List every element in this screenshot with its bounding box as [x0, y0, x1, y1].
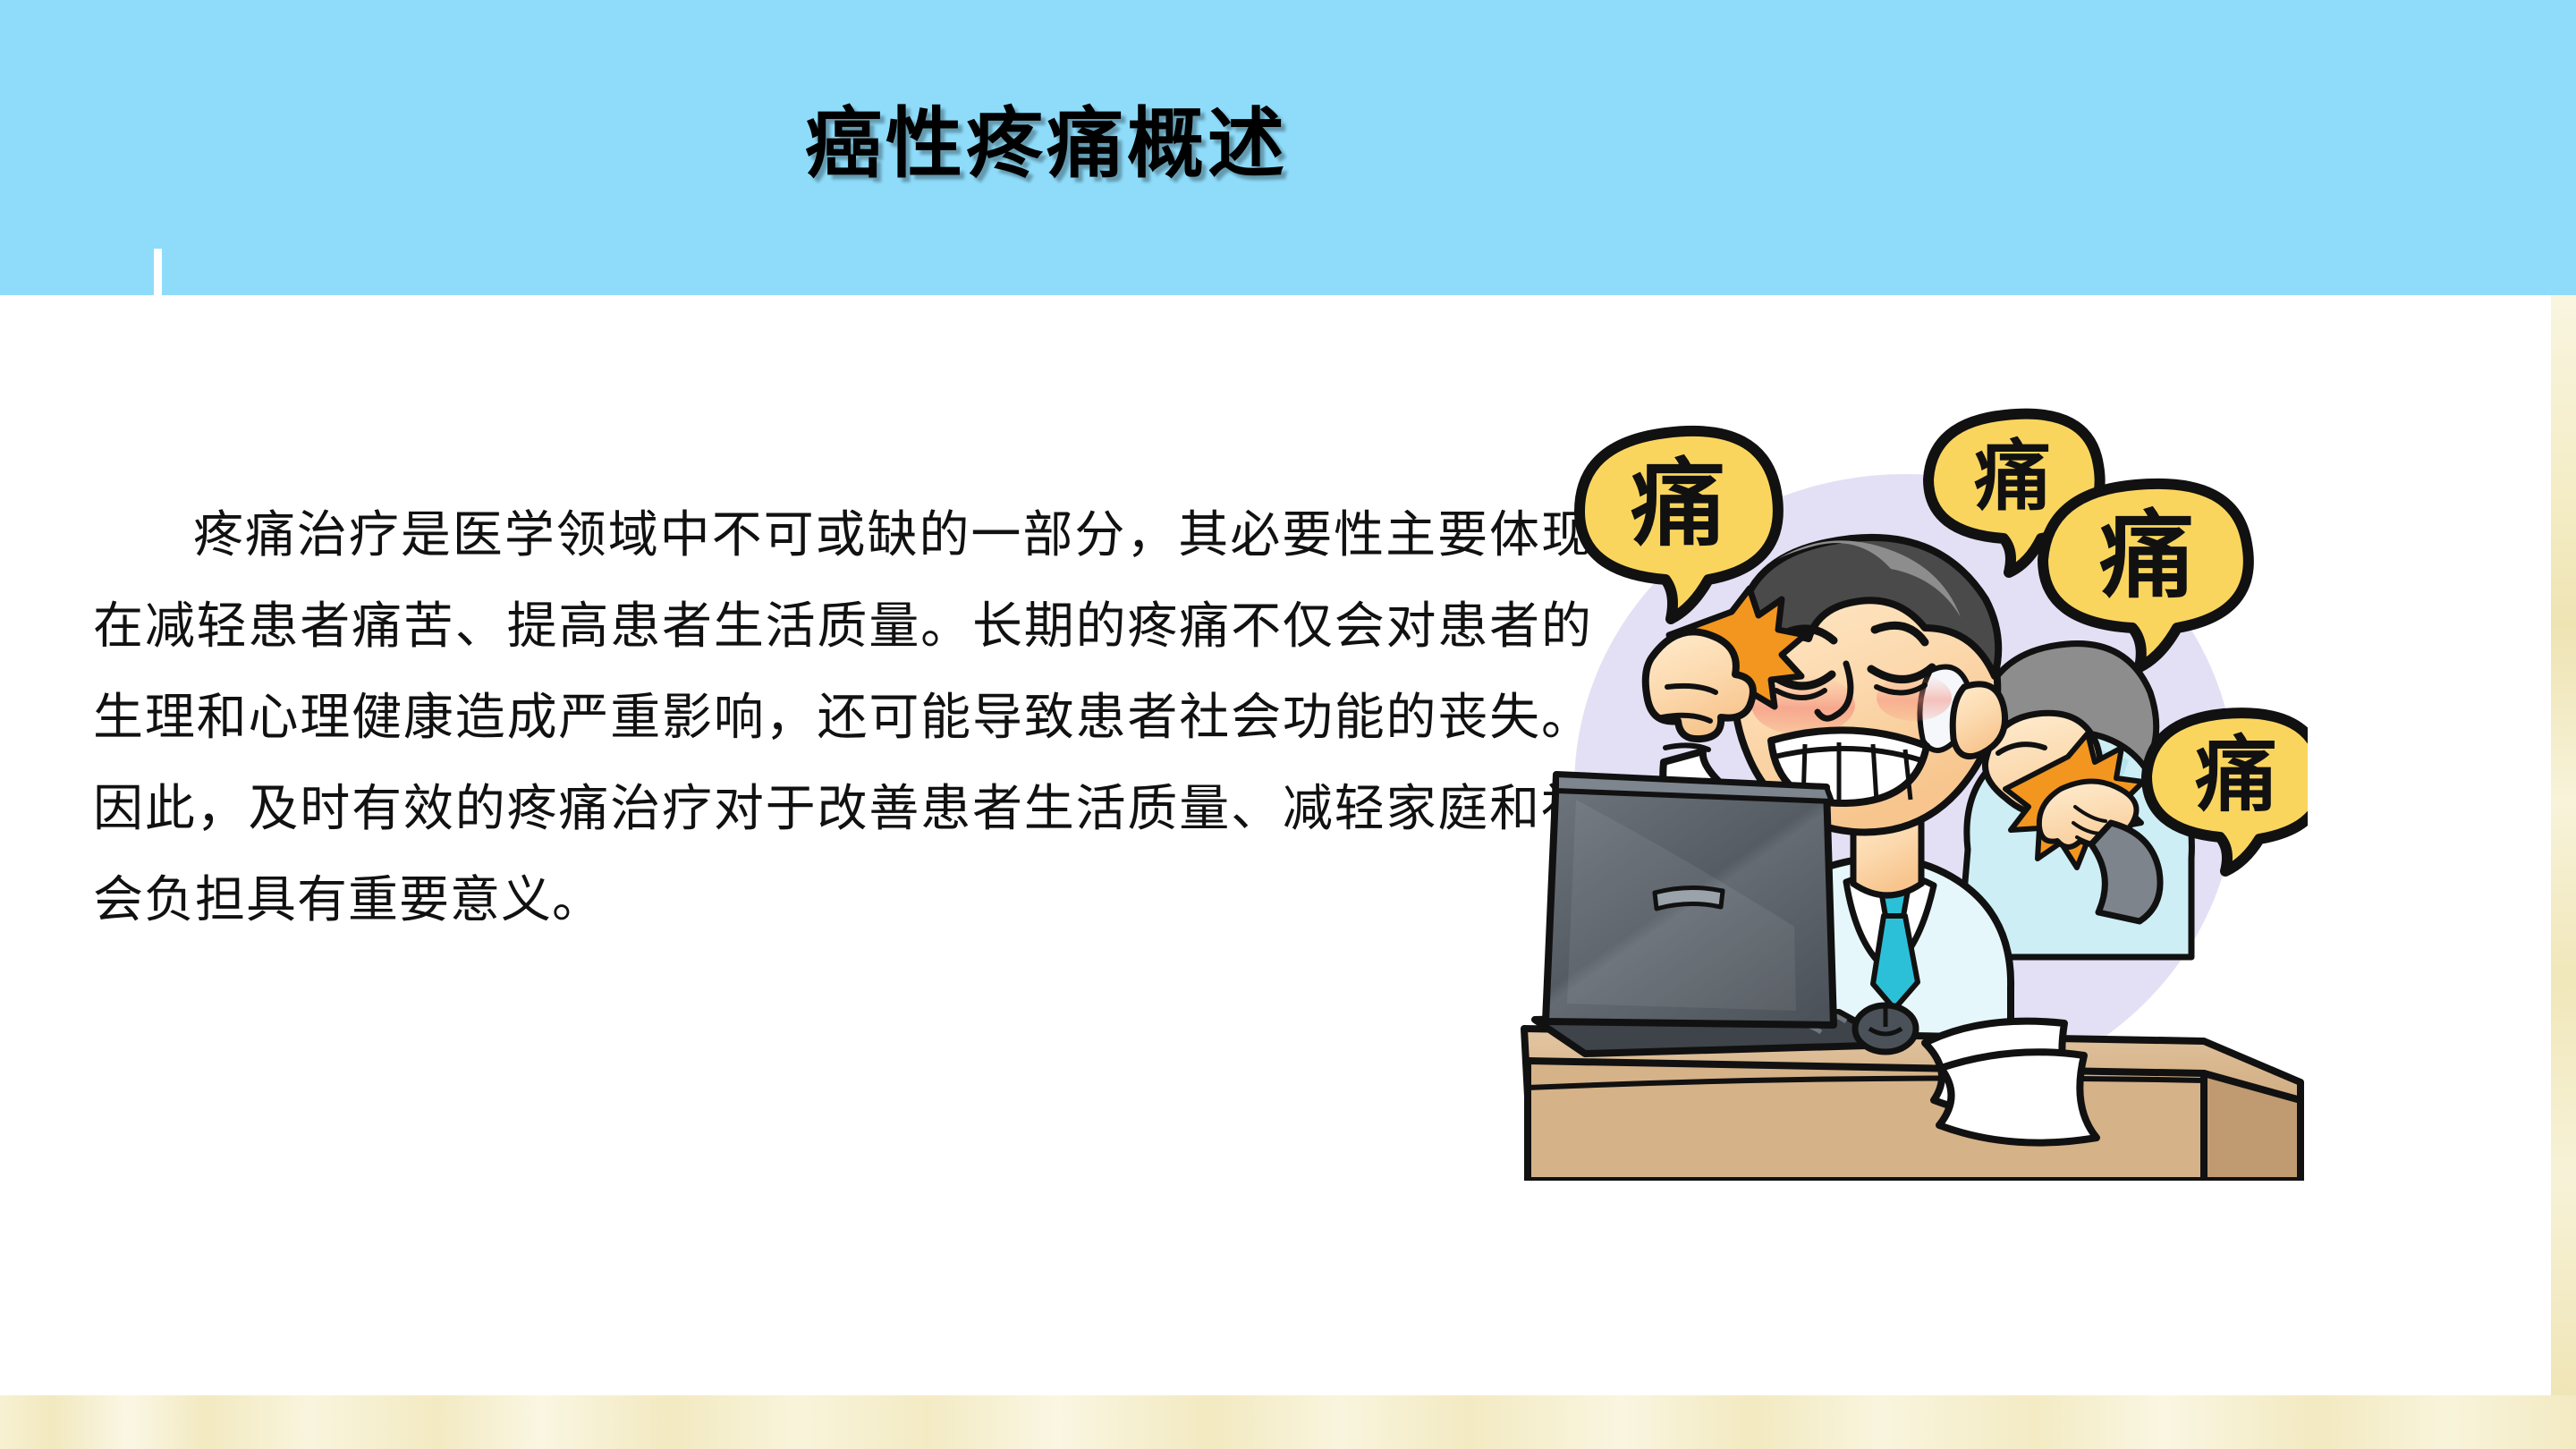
bubble-2-text: 痛	[1974, 432, 2051, 521]
page-title: 癌性疼痛概述	[0, 106, 2093, 182]
bubble-1-text: 痛	[1631, 449, 1725, 559]
paper-sheet-front	[1939, 1052, 2097, 1142]
right-edge-stripe	[2551, 295, 2576, 1395]
body-paragraph: 疼痛治疗是医学领域中不可或缺的一部分，其必要性主要体现在减轻患者痛苦、提高患者生…	[93, 490, 1592, 946]
footer-band	[0, 1395, 2576, 1449]
slide-canvas: 癌性疼痛概述 疼痛治疗是医学领域中不可或缺的一部分，其必要性主要体现在减轻患者痛…	[0, 0, 2576, 1449]
man-ear	[1953, 684, 2004, 757]
pain-cartoon-illustration: 痛 痛 痛 痛	[1521, 402, 2308, 1181]
pain-cartoon-svg: 痛 痛 痛 痛	[1521, 402, 2308, 1181]
bubble-4-text: 痛	[2195, 727, 2277, 823]
bubble-3-text: 痛	[2099, 501, 2194, 611]
header-accent-tick	[154, 249, 162, 297]
laptop-logo	[1655, 887, 1723, 909]
